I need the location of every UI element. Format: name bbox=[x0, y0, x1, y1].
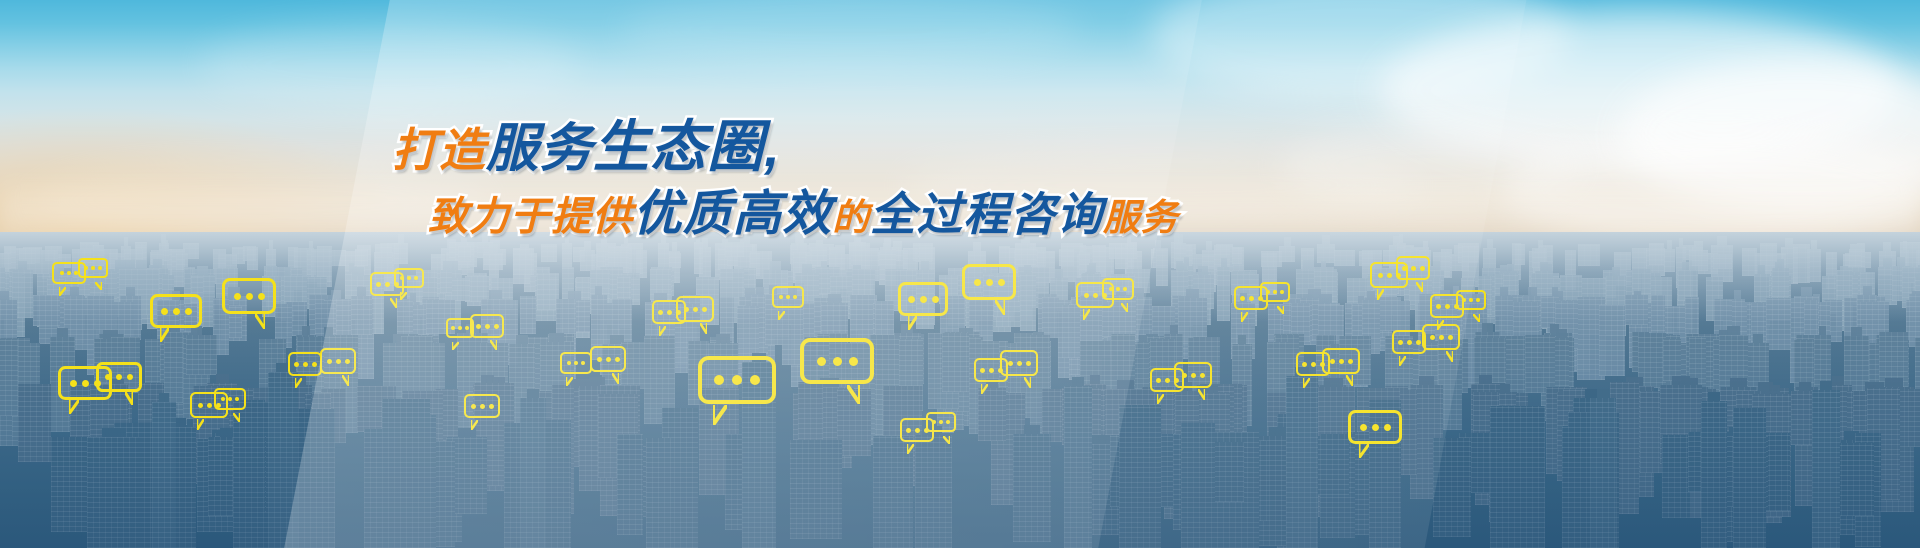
cloud bbox=[620, 0, 1080, 70]
building bbox=[1109, 243, 1122, 259]
landmark-tower bbox=[1590, 398, 1616, 548]
building bbox=[1662, 435, 1690, 518]
building bbox=[1793, 244, 1811, 282]
building bbox=[1339, 336, 1371, 385]
building bbox=[580, 250, 595, 270]
building bbox=[1317, 244, 1336, 264]
landmark-tower bbox=[152, 402, 176, 548]
building bbox=[520, 296, 536, 334]
building bbox=[628, 243, 643, 275]
building bbox=[915, 435, 953, 548]
building bbox=[725, 242, 744, 257]
building bbox=[51, 437, 91, 532]
building bbox=[440, 270, 452, 294]
building bbox=[0, 339, 18, 416]
building bbox=[18, 384, 51, 461]
building bbox=[1217, 267, 1230, 321]
building bbox=[790, 440, 842, 538]
building bbox=[87, 437, 141, 548]
building bbox=[247, 247, 258, 270]
building bbox=[1663, 339, 1681, 380]
landmark-tower bbox=[1812, 390, 1840, 548]
building bbox=[1772, 268, 1790, 297]
building bbox=[1733, 408, 1766, 548]
building bbox=[1121, 243, 1137, 260]
building bbox=[1490, 406, 1545, 548]
building bbox=[1181, 423, 1216, 548]
building bbox=[458, 246, 471, 262]
building bbox=[355, 249, 368, 266]
building bbox=[1156, 249, 1167, 286]
building bbox=[837, 389, 871, 456]
building bbox=[942, 333, 968, 392]
cloud bbox=[200, 20, 580, 110]
building bbox=[1379, 297, 1401, 332]
building bbox=[513, 248, 535, 275]
building bbox=[1433, 438, 1471, 537]
landmark-tower bbox=[1286, 376, 1318, 548]
building bbox=[1713, 254, 1732, 269]
building bbox=[1908, 389, 1920, 447]
building bbox=[1578, 244, 1600, 266]
cityscape bbox=[0, 232, 1920, 548]
building bbox=[694, 242, 703, 274]
building bbox=[33, 295, 60, 326]
building bbox=[541, 244, 557, 263]
building bbox=[233, 400, 265, 548]
hero-banner: 打造服务生态圈, 致力于提供优质高效的全过程咨询服务 打造服务生态圈, 致力于提… bbox=[0, 0, 1920, 548]
building bbox=[1625, 295, 1647, 325]
building bbox=[406, 415, 435, 548]
landmark-tower bbox=[1064, 386, 1092, 548]
building bbox=[1766, 298, 1792, 350]
landmark-tower bbox=[742, 362, 776, 548]
building bbox=[617, 434, 643, 535]
building bbox=[1649, 243, 1665, 265]
building bbox=[1525, 335, 1555, 393]
building bbox=[1383, 250, 1395, 266]
building bbox=[646, 438, 672, 548]
building bbox=[782, 296, 803, 365]
landmark-tower bbox=[520, 398, 546, 548]
building bbox=[1119, 405, 1162, 548]
building bbox=[1020, 274, 1036, 330]
building bbox=[1689, 250, 1708, 271]
building bbox=[1369, 400, 1402, 548]
building bbox=[1664, 249, 1676, 273]
building bbox=[916, 270, 935, 328]
building bbox=[1434, 299, 1457, 335]
building bbox=[483, 253, 503, 271]
building bbox=[765, 294, 783, 344]
landmark-tower bbox=[268, 372, 298, 548]
building bbox=[1314, 436, 1349, 495]
building bbox=[426, 300, 455, 333]
building bbox=[978, 388, 1006, 441]
building bbox=[1013, 434, 1051, 542]
building bbox=[1042, 297, 1059, 338]
building bbox=[1232, 247, 1243, 264]
building bbox=[873, 436, 914, 548]
building bbox=[1701, 401, 1728, 548]
building bbox=[1599, 305, 1625, 377]
building bbox=[394, 243, 409, 264]
building bbox=[562, 243, 571, 270]
building bbox=[1261, 251, 1283, 267]
building bbox=[351, 296, 372, 334]
building bbox=[1334, 250, 1356, 266]
building bbox=[962, 267, 982, 293]
building bbox=[186, 335, 217, 375]
building bbox=[1742, 248, 1757, 276]
building bbox=[1685, 297, 1699, 334]
